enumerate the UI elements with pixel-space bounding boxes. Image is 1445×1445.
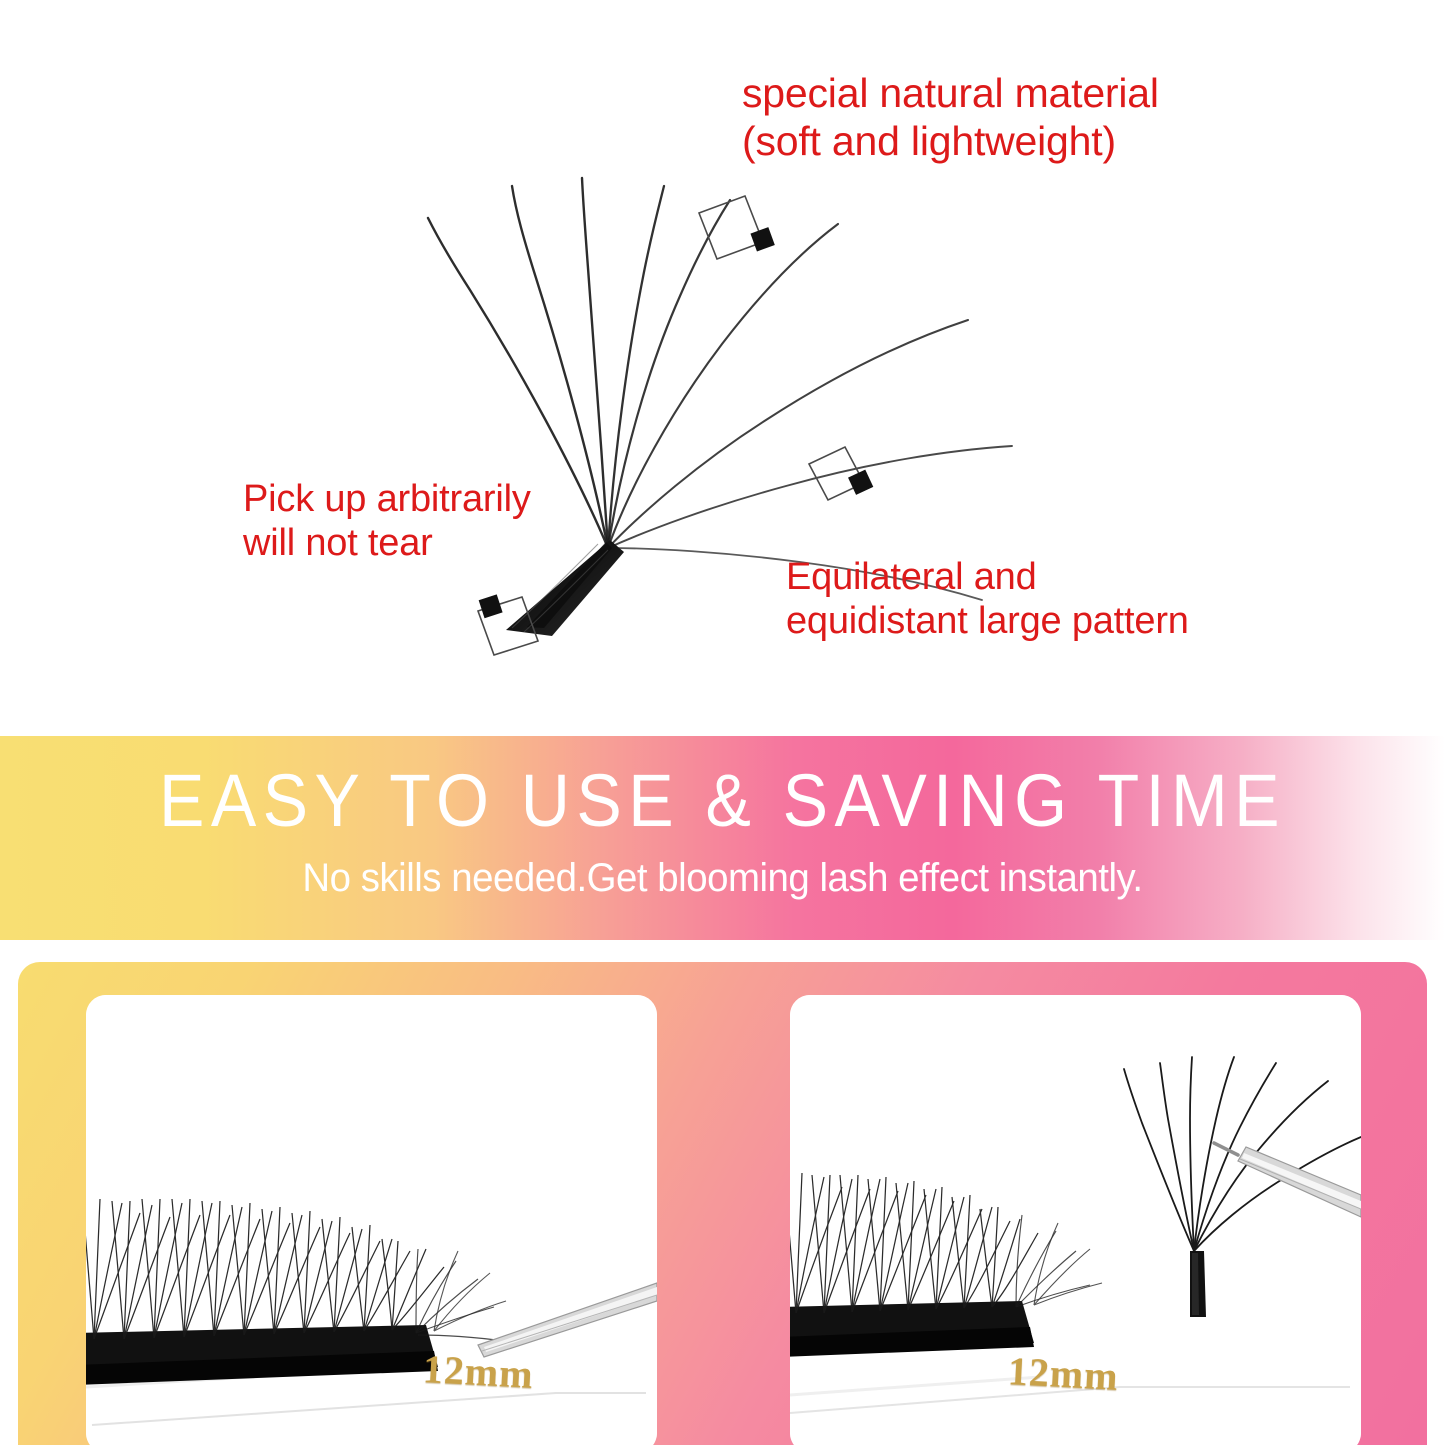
banner-headline: EASY TO USE & SAVING TIME (58, 764, 1387, 838)
marker-equilateral-icon (809, 447, 873, 500)
photo-card-left[interactable]: 12mm (86, 995, 657, 1445)
banner-subheadline: No skills needed.Get blooming lash effec… (29, 858, 1416, 898)
callout-label-pick-up: Pick up arbitrarily will not tear (243, 477, 531, 565)
photo-card-right[interactable]: 12mm (790, 995, 1361, 1445)
product-infographic-page: special natural material (soft and light… (0, 0, 1445, 1445)
marker-material-icon (699, 196, 775, 259)
lash-fan-illustration (0, 0, 1445, 735)
callout-label-material: special natural material (soft and light… (742, 70, 1159, 165)
callout-label-equilateral: Equilateral and equidistant large patter… (786, 555, 1189, 643)
lash-tray-tweezers-photo (86, 995, 657, 1445)
lash-fan-pickup-photo (790, 995, 1361, 1445)
promo-banner: EASY TO USE & SAVING TIME No skills need… (0, 736, 1445, 940)
lash-fan-diagram-section: special natural material (soft and light… (0, 0, 1445, 735)
photo-gallery-frame: 12mm (18, 962, 1427, 1445)
